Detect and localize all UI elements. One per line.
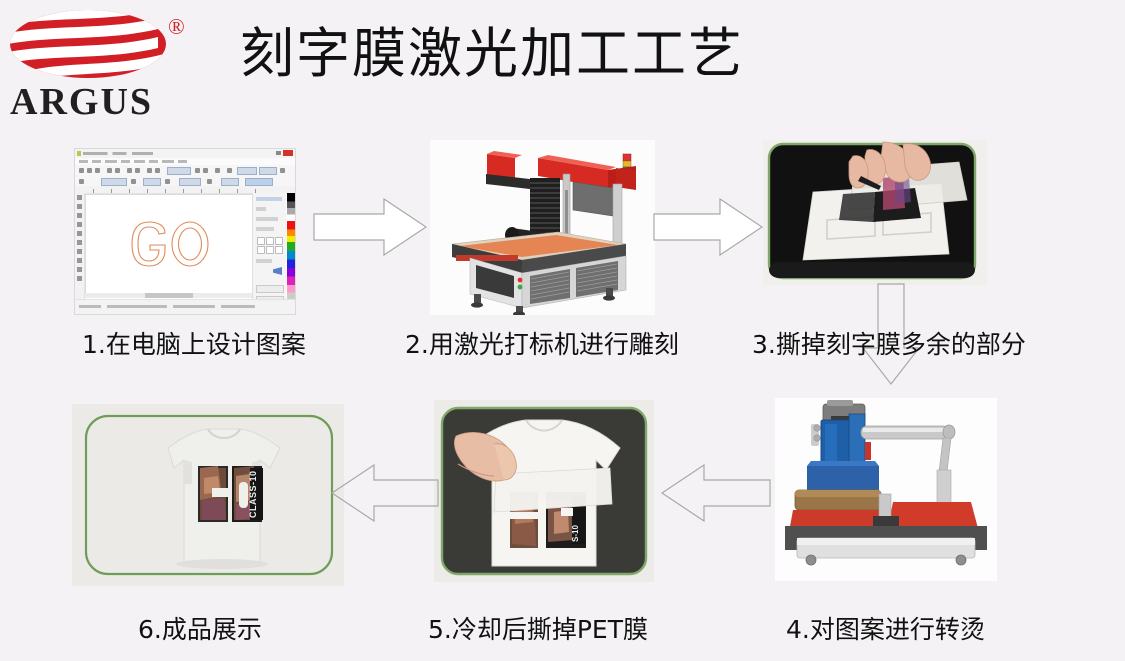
svg-text:CLASS-10: CLASS-10: [248, 470, 258, 518]
brand-name: ARGUS: [10, 80, 153, 124]
arrow-step1-to-step2: [312, 196, 428, 258]
color-palette[interactable]: [287, 193, 295, 300]
step-4-caption: 4.对图案进行转烫: [786, 610, 985, 646]
heat-press-machine-illustration: [775, 398, 997, 581]
go-artwork-outline: [124, 220, 214, 268]
step-3-caption: 3.撕掉刻字膜多余的部分: [752, 325, 1026, 361]
step-1-caption: 1.在电脑上设计图案: [82, 325, 306, 361]
step-2-image: [430, 140, 655, 315]
page-title: 刻字膜激光加工工艺: [240, 14, 900, 94]
peeling-vinyl-film-illustration: [763, 140, 987, 285]
arrow-step4-to-step5: [660, 462, 772, 524]
step-1-image: [74, 148, 296, 315]
slide-canvas: ® ARGUS 刻字膜激光加工工艺: [0, 0, 1125, 661]
status-bar: [75, 299, 295, 314]
minimize-button[interactable]: [276, 151, 281, 155]
step-2-caption: 2.用激光打标机进行雕刻: [405, 325, 679, 361]
arrow-step2-to-step3: [652, 196, 764, 258]
scrollbar-thumb[interactable]: [145, 293, 192, 298]
registered-trademark-icon: ®: [168, 14, 185, 40]
step-6-caption: 6.成品展示: [138, 610, 262, 646]
svg-text:S-10: S-10: [571, 525, 580, 542]
argus-logo: ® ARGUS: [8, 8, 208, 123]
toolbox[interactable]: [75, 193, 84, 300]
horizontal-scrollbar[interactable]: [85, 293, 253, 298]
step-4-image: [775, 398, 997, 581]
finished-tshirt-illustration: CLASS-10: [72, 404, 344, 586]
argus-logo-mark-icon: [8, 8, 168, 80]
peeling-pet-film-illustration: S-10: [434, 400, 654, 582]
close-icon[interactable]: [283, 150, 293, 156]
app-titlebar-text: [83, 152, 153, 155]
step-5-caption: 5.冷却后撕掉PET膜: [428, 610, 648, 646]
laser-marking-machine-illustration: [430, 140, 655, 315]
app-icon: [77, 151, 81, 156]
arrow-step5-to-step6: [330, 462, 440, 524]
design-canvas[interactable]: [85, 194, 253, 298]
properties-docker[interactable]: [252, 193, 286, 300]
step-3-image: [763, 140, 987, 285]
step-6-image: CLASS-10: [72, 404, 344, 586]
step-5-image: S-10: [434, 400, 654, 582]
